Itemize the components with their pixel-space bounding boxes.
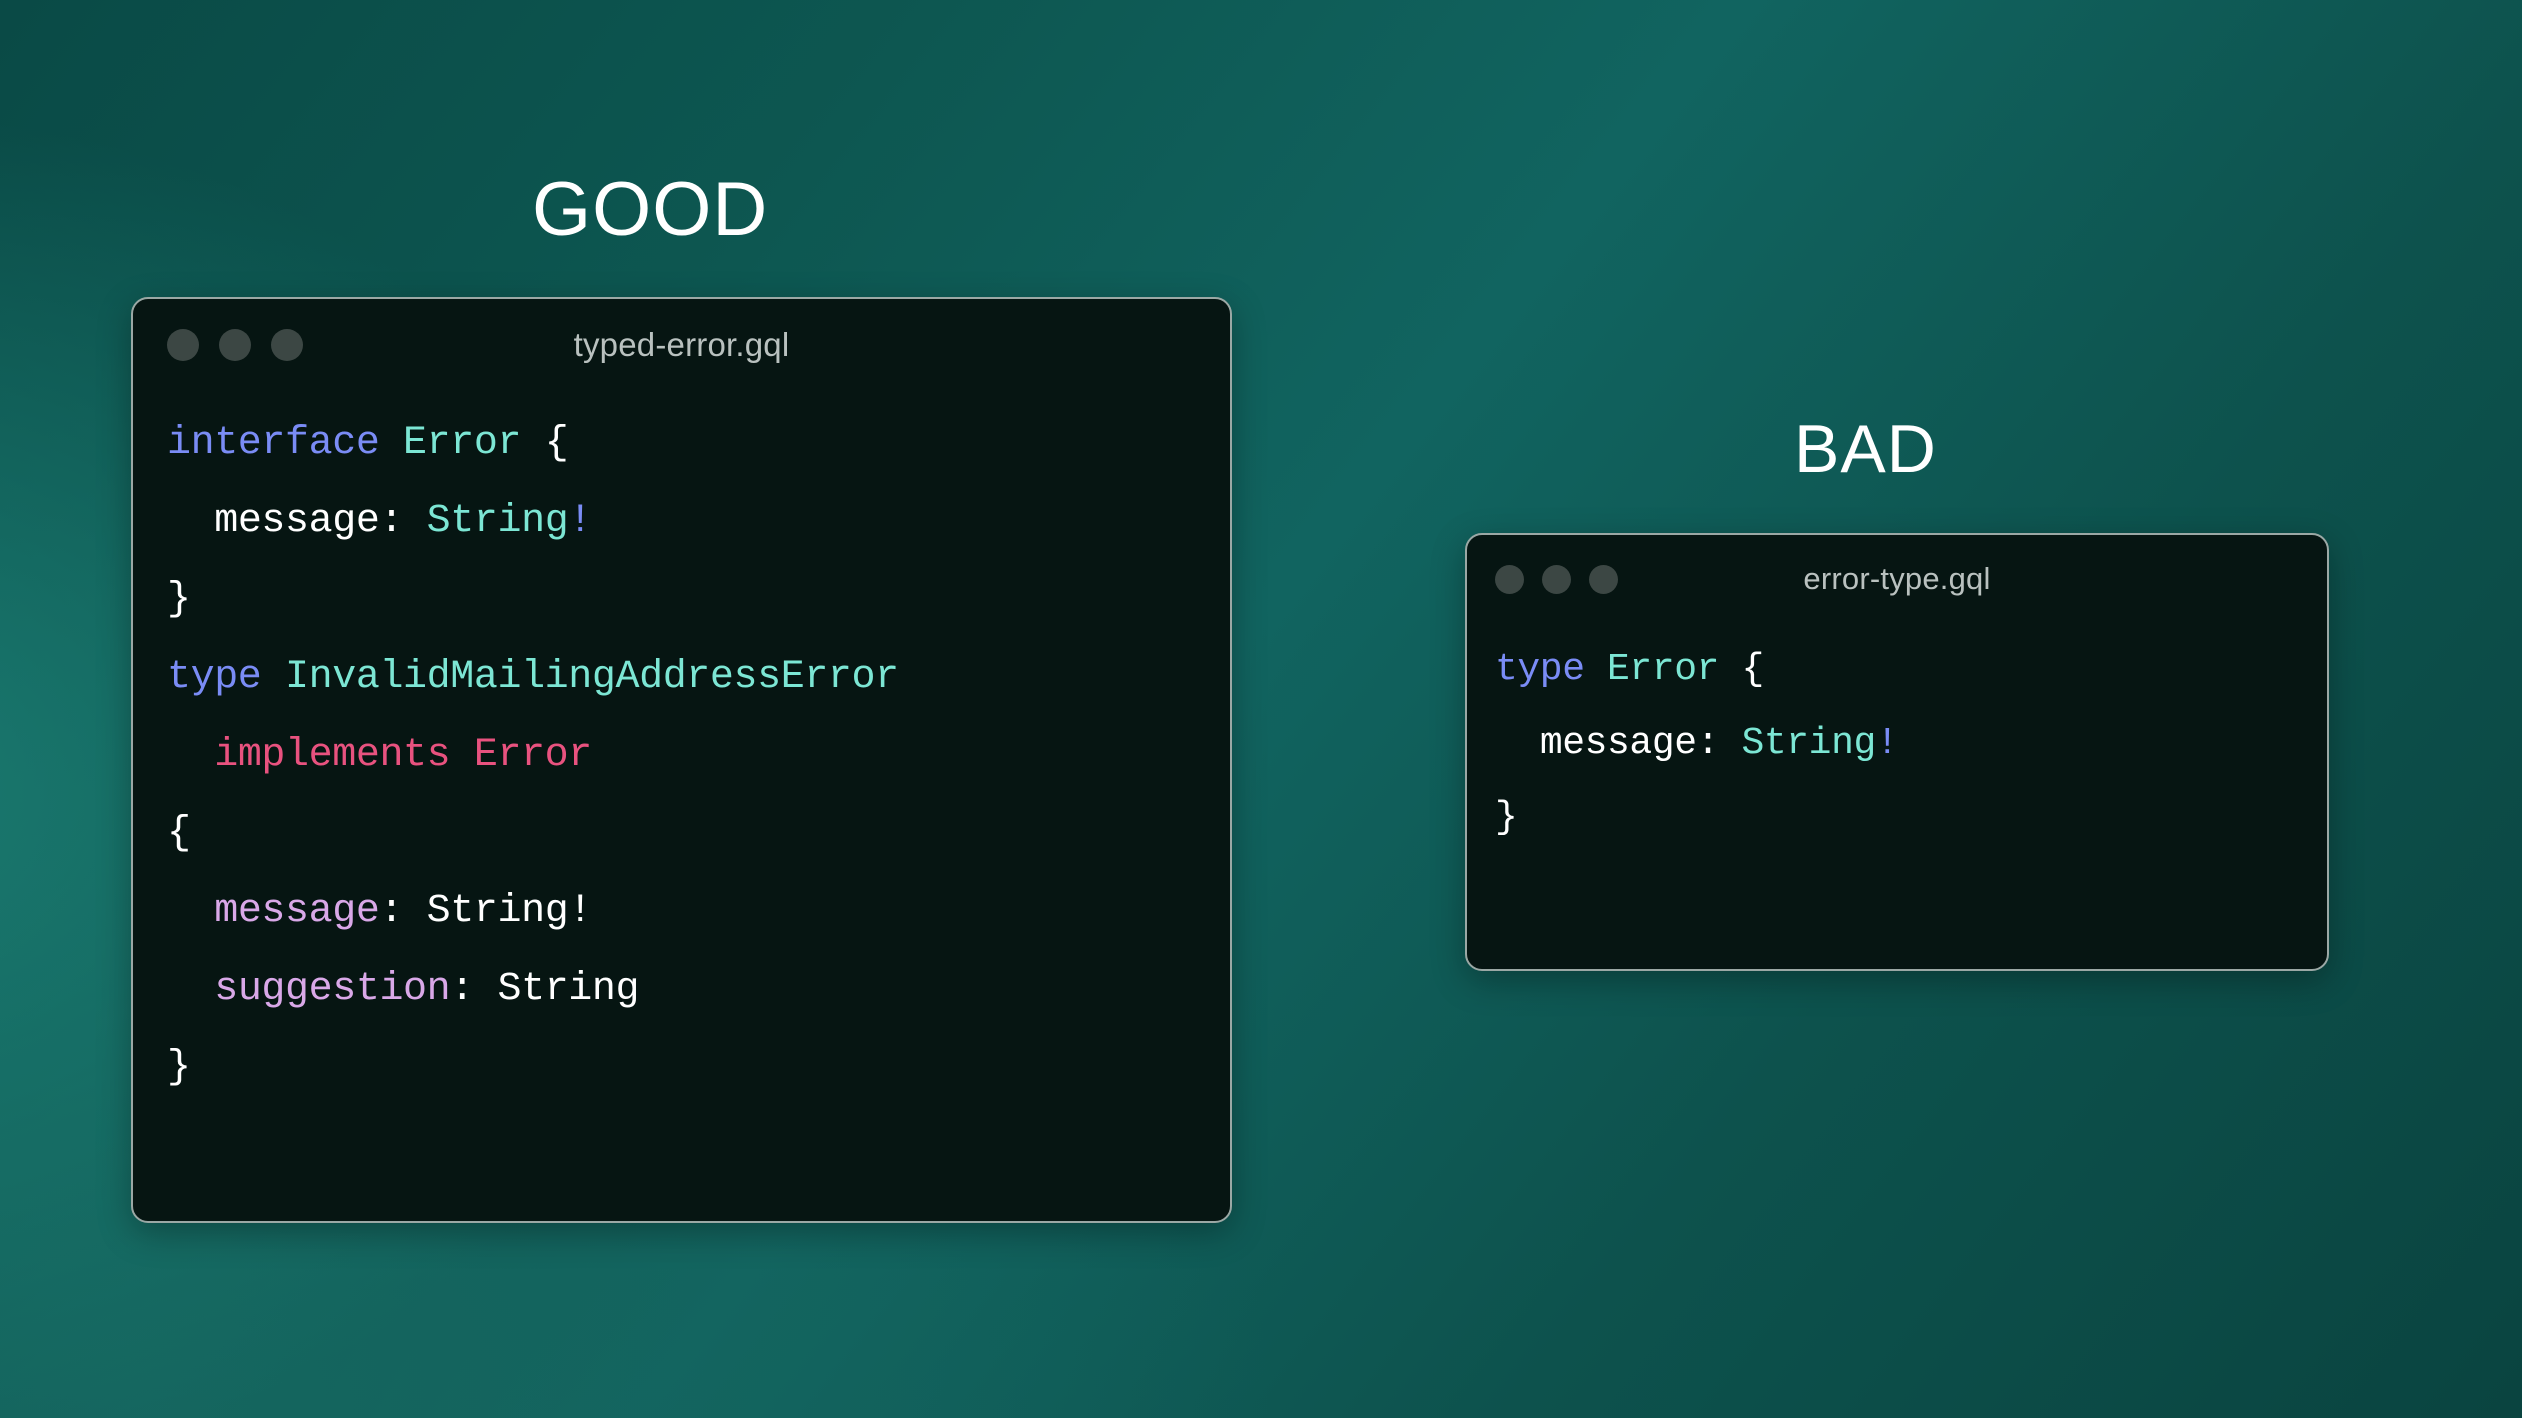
bad-code-content: type Error { message: String! }	[1467, 623, 2327, 881]
code-line: message: String!	[167, 483, 1196, 561]
code-token-plain	[521, 421, 545, 466]
code-token-punct: :	[379, 499, 426, 544]
code-line: suggestion: String	[167, 951, 1196, 1029]
code-token-plain	[261, 655, 285, 700]
code-token-plain: message	[1540, 722, 1697, 765]
code-token-keyword: type	[1495, 648, 1585, 691]
code-token-plain: String!	[427, 889, 592, 934]
code-token-scalar: String	[1741, 722, 1875, 765]
close-dot-icon[interactable]	[1495, 565, 1524, 594]
code-token-punct: {	[1741, 648, 1763, 691]
code-token-plain: message	[214, 499, 379, 544]
code-token-scalar: String	[427, 499, 569, 544]
code-token-bang: !	[1876, 722, 1898, 765]
code-token-implements: implements Error	[214, 733, 592, 778]
code-token-punct: }	[1495, 796, 1517, 839]
code-token-plain	[1495, 722, 1540, 765]
maximize-dot-icon[interactable]	[1589, 565, 1618, 594]
code-token-bang: !	[568, 499, 592, 544]
code-token-punct: {	[545, 421, 569, 466]
code-token-plain	[1585, 648, 1607, 691]
code-line: message: String!	[167, 873, 1196, 951]
good-window-titlebar: typed-error.gql	[133, 299, 1230, 391]
code-line: interface Error {	[167, 405, 1196, 483]
code-token-punct: :	[450, 967, 497, 1012]
code-token-plain: String	[497, 967, 639, 1012]
bad-code-window: error-type.gql type Error { message: Str…	[1465, 533, 2329, 971]
code-line: implements Error	[167, 717, 1196, 795]
code-token-punct: {	[167, 811, 191, 856]
bad-window-titlebar: error-type.gql	[1467, 535, 2327, 623]
maximize-dot-icon[interactable]	[271, 329, 303, 361]
code-line: type Error {	[1495, 633, 2299, 707]
bad-section-label: BAD	[1794, 415, 1937, 483]
code-line: {	[167, 795, 1196, 873]
code-line: }	[1495, 781, 2299, 855]
code-token-field: message	[214, 889, 379, 934]
code-token-punct: :	[379, 889, 426, 934]
code-token-punct: :	[1697, 722, 1742, 765]
code-token-keyword: interface	[167, 421, 379, 466]
code-token-punct: }	[167, 577, 191, 622]
code-token-plain	[167, 967, 214, 1012]
code-token-keyword: type	[167, 655, 261, 700]
bad-traffic-lights	[1495, 565, 1618, 594]
comparison-stage: GOOD typed-error.gql interface Error { m…	[0, 0, 2522, 1418]
code-token-type: InvalidMailingAddressError	[285, 655, 899, 700]
code-line: type InvalidMailingAddressError	[167, 639, 1196, 717]
code-token-punct: }	[167, 1045, 191, 1090]
close-dot-icon[interactable]	[167, 329, 199, 361]
good-code-window: typed-error.gql interface Error { messag…	[131, 297, 1232, 1223]
good-section-label: GOOD	[532, 172, 768, 248]
code-token-type: Error	[1607, 648, 1719, 691]
code-line: }	[167, 561, 1196, 639]
good-code-content: interface Error { message: String! } typ…	[133, 391, 1230, 1137]
good-traffic-lights	[167, 329, 303, 361]
code-token-plain	[379, 421, 403, 466]
code-token-plain	[167, 733, 214, 778]
code-line: message: String!	[1495, 707, 2299, 781]
minimize-dot-icon[interactable]	[219, 329, 251, 361]
code-token-field: suggestion	[214, 967, 450, 1012]
minimize-dot-icon[interactable]	[1542, 565, 1571, 594]
code-token-plain	[167, 499, 214, 544]
code-line: }	[167, 1029, 1196, 1107]
code-token-plain	[1719, 648, 1741, 691]
code-token-plain	[167, 889, 214, 934]
code-token-type: Error	[403, 421, 521, 466]
